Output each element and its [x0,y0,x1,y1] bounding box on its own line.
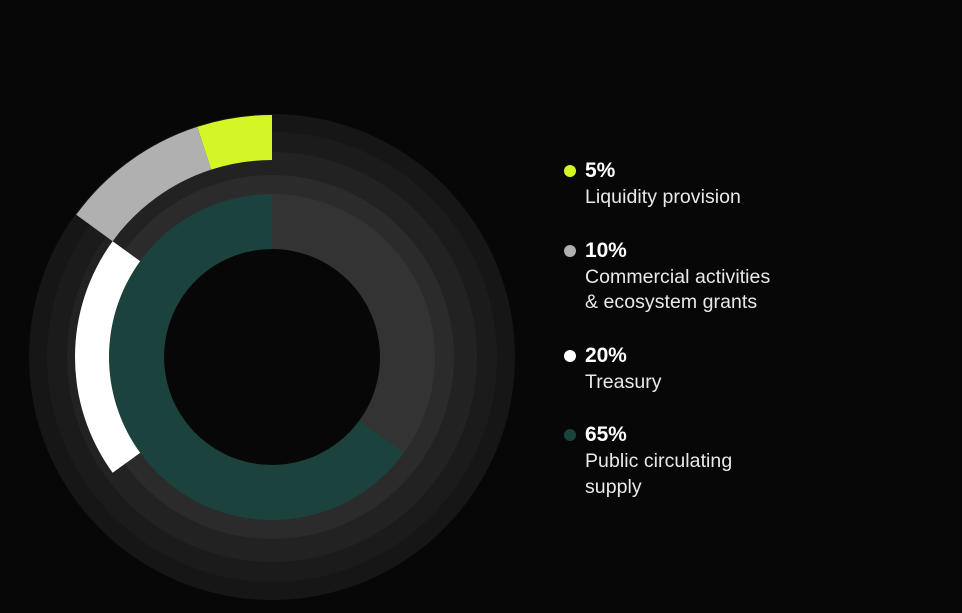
legend-label: Liquidity provision [585,185,885,211]
legend-item-head: 65% [564,424,944,446]
donut-chart [0,0,560,613]
legend-percent: 20% [585,345,627,367]
legend-swatch-icon [564,350,576,362]
legend-swatch-icon [564,429,576,441]
legend-item-treasury[interactable]: 20% Treasury [564,345,944,396]
legend-item-public-circulating-supply[interactable]: 65% Public circulating supply [564,424,944,500]
legend-swatch-icon [564,245,576,257]
legend-item-commercial-activities[interactable]: 10% Commercial activities & ecosystem gr… [564,240,944,316]
legend-percent: 5% [585,160,615,182]
chart-legend: 5% Liquidity provision 10% Commercial ac… [564,160,944,500]
legend-item-liquidity-provision[interactable]: 5% Liquidity provision [564,160,944,211]
slide-canvas: 5% Liquidity provision 10% Commercial ac… [0,0,962,613]
donut-chart-svg [0,0,560,613]
legend-label: Public circulating supply [585,449,885,500]
legend-swatch-icon [564,165,576,177]
legend-item-head: 5% [564,160,944,182]
legend-item-head: 20% [564,345,944,367]
legend-item-head: 10% [564,240,944,262]
legend-label: Commercial activities & ecosystem grants [585,265,885,316]
legend-label: Treasury [585,370,885,396]
legend-percent: 65% [585,424,627,446]
legend-percent: 10% [585,240,627,262]
donut-hole [164,249,380,465]
